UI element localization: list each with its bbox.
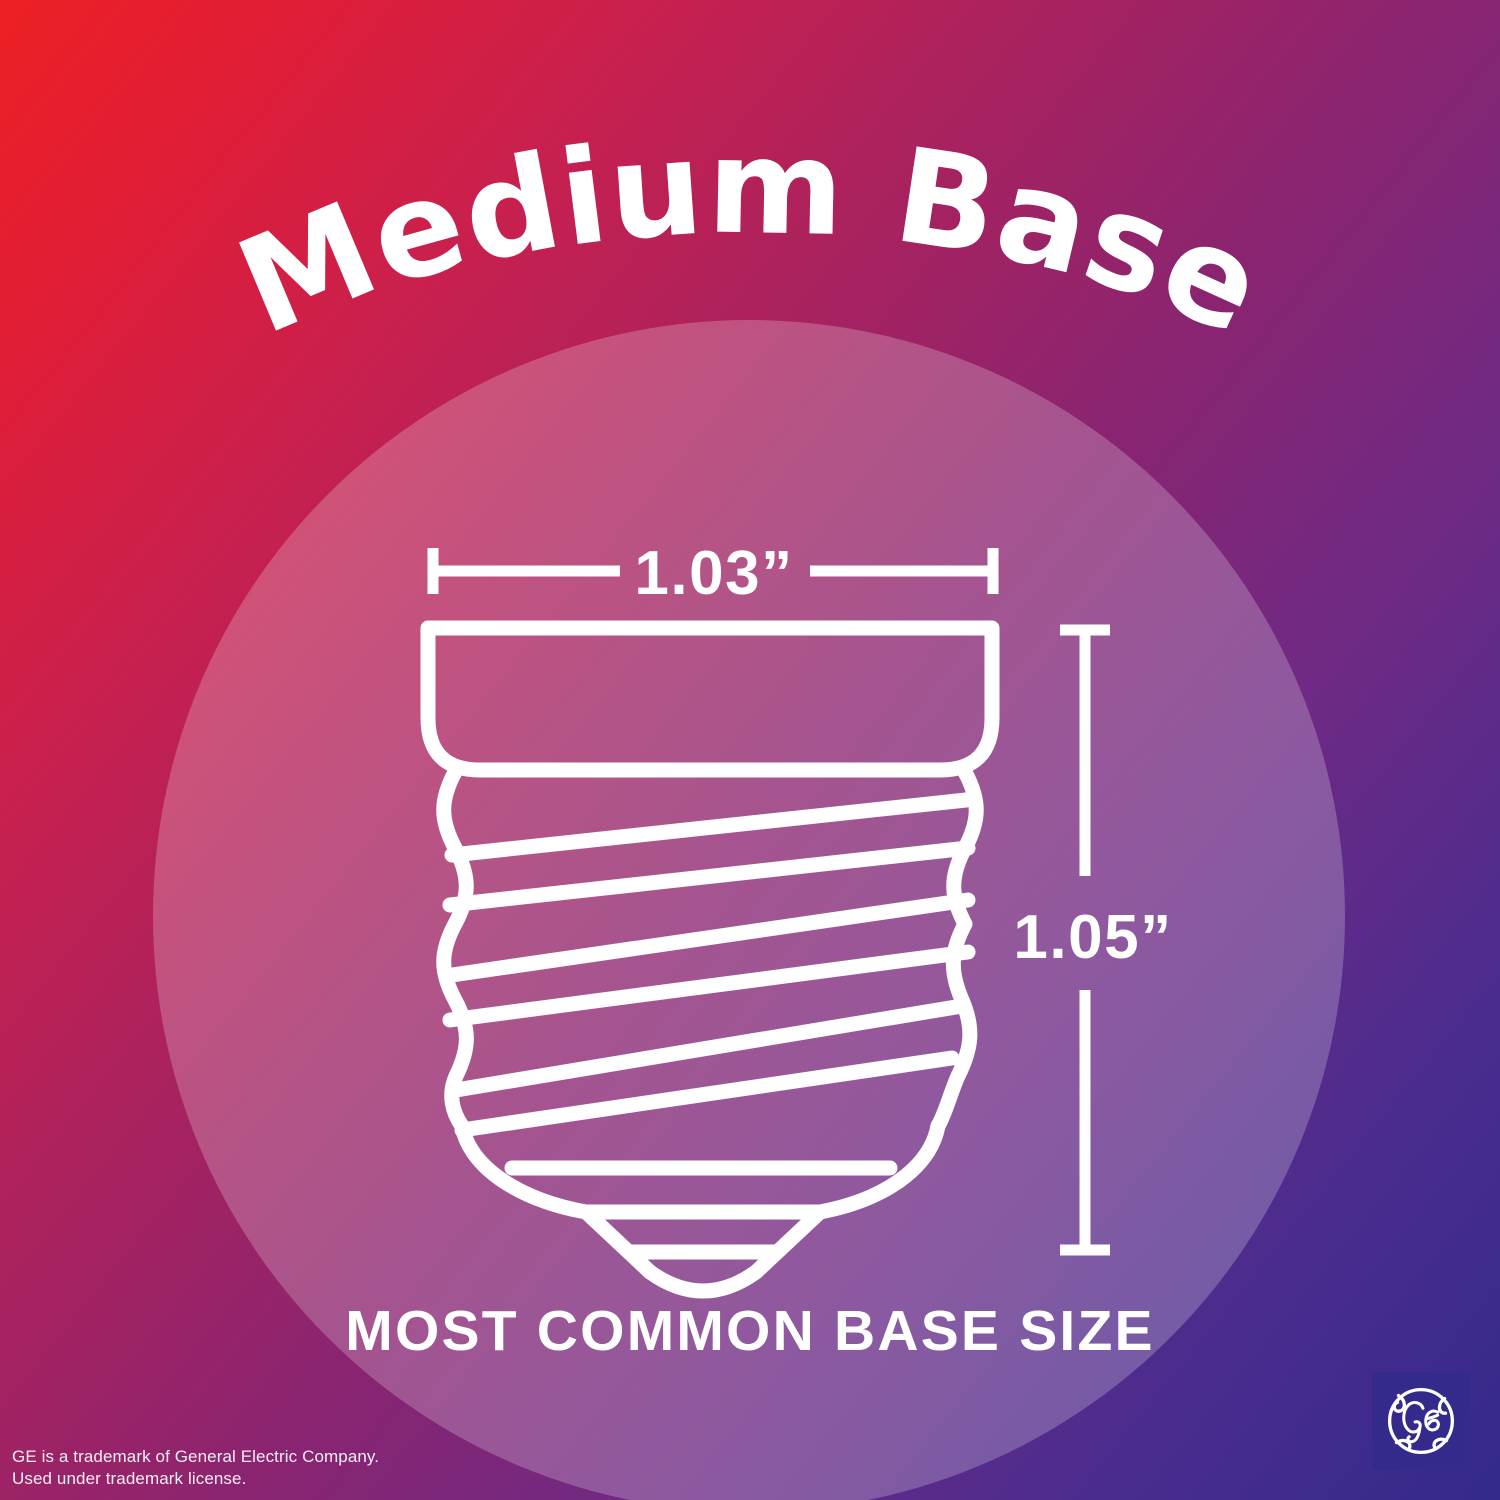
bulb-base-outline — [428, 628, 992, 1291]
thread-line-6 — [462, 1058, 952, 1130]
legal-line-1: GE is a trademark of General Electric Co… — [12, 1446, 379, 1468]
ge-monogram-logo — [1372, 1372, 1470, 1470]
thread-line-1 — [452, 800, 966, 855]
logo-backdrop — [1372, 1372, 1470, 1470]
width-dimension-label: 1.03” — [634, 539, 793, 608]
thread-line-5 — [456, 1006, 962, 1090]
legal-line-2: Used under trademark license. — [12, 1468, 379, 1490]
tip-wall-right — [756, 1212, 820, 1272]
thread-edge-left — [444, 772, 467, 1126]
tip-wall-left — [586, 1212, 650, 1272]
bulb-base-diagram: 1.03” 1.05” — [0, 0, 1500, 1500]
caption: MOST COMMON BASE SIZE — [0, 1298, 1500, 1364]
height-dimension-label: 1.05” — [1013, 903, 1172, 972]
base-collar — [428, 628, 992, 770]
thread-line-2 — [450, 848, 968, 905]
legal-notice: GE is a trademark of General Electric Co… — [12, 1446, 379, 1491]
tip-bottom — [650, 1272, 756, 1291]
product-infographic: Medium Base 1.03” 1.05” — [0, 0, 1500, 1500]
